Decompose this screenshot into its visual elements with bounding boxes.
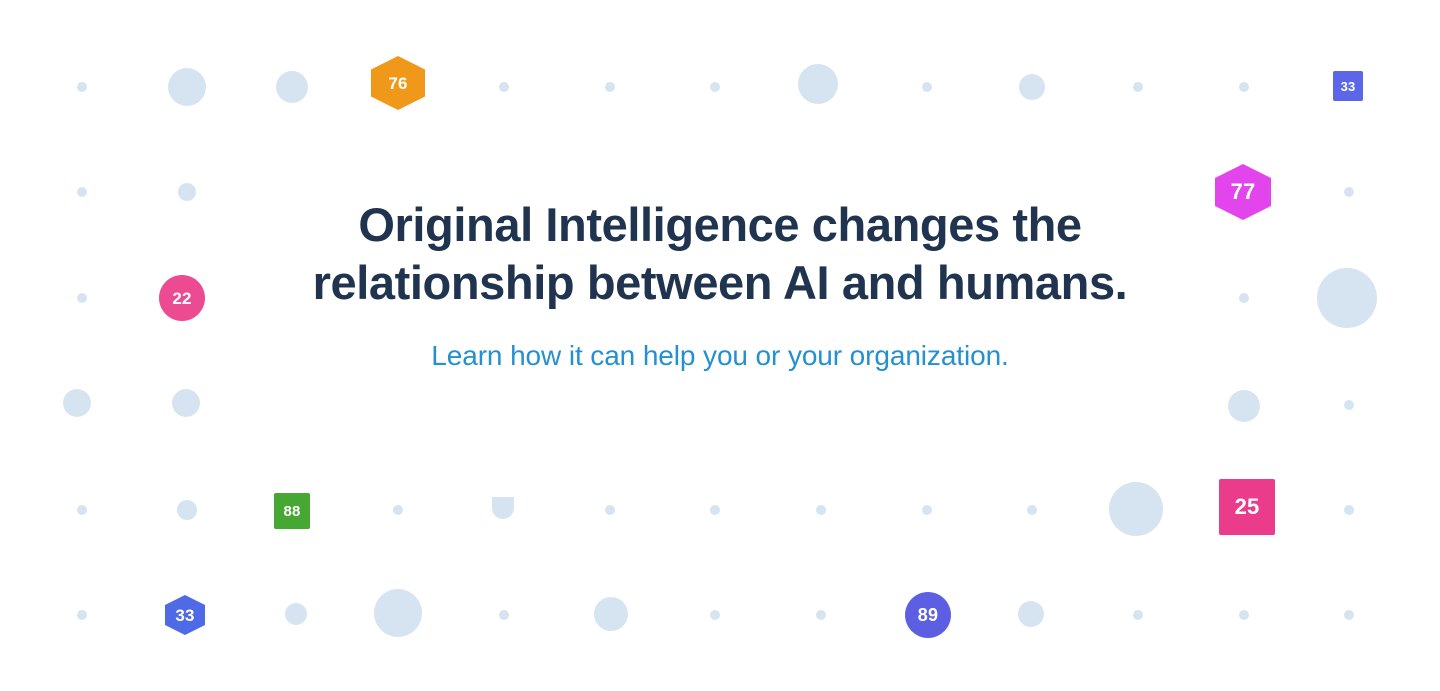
node-88-value: 88: [283, 504, 300, 519]
node-77-value: 77: [1231, 181, 1256, 203]
node-33-bottom-left-value: 33: [175, 607, 194, 624]
data-node-layer: 7633772288253389: [0, 0, 1440, 691]
node-22[interactable]: 22: [159, 275, 205, 321]
node-33-bottom-left[interactable]: 33: [165, 595, 205, 635]
node-22-value: 22: [172, 290, 191, 307]
node-77[interactable]: 77: [1215, 164, 1271, 220]
node-33-top-right-value: 33: [1341, 80, 1356, 93]
node-88[interactable]: 88: [274, 493, 310, 529]
node-89[interactable]: 89: [905, 592, 951, 638]
node-25[interactable]: 25: [1219, 479, 1275, 535]
node-76[interactable]: 76: [371, 56, 425, 110]
node-33-top-right[interactable]: 33: [1333, 71, 1363, 101]
node-89-value: 89: [918, 606, 938, 624]
hero-section: 7633772288253389 Original Intelligence c…: [0, 0, 1440, 691]
node-25-value: 25: [1235, 496, 1260, 518]
node-76-value: 76: [388, 75, 407, 92]
